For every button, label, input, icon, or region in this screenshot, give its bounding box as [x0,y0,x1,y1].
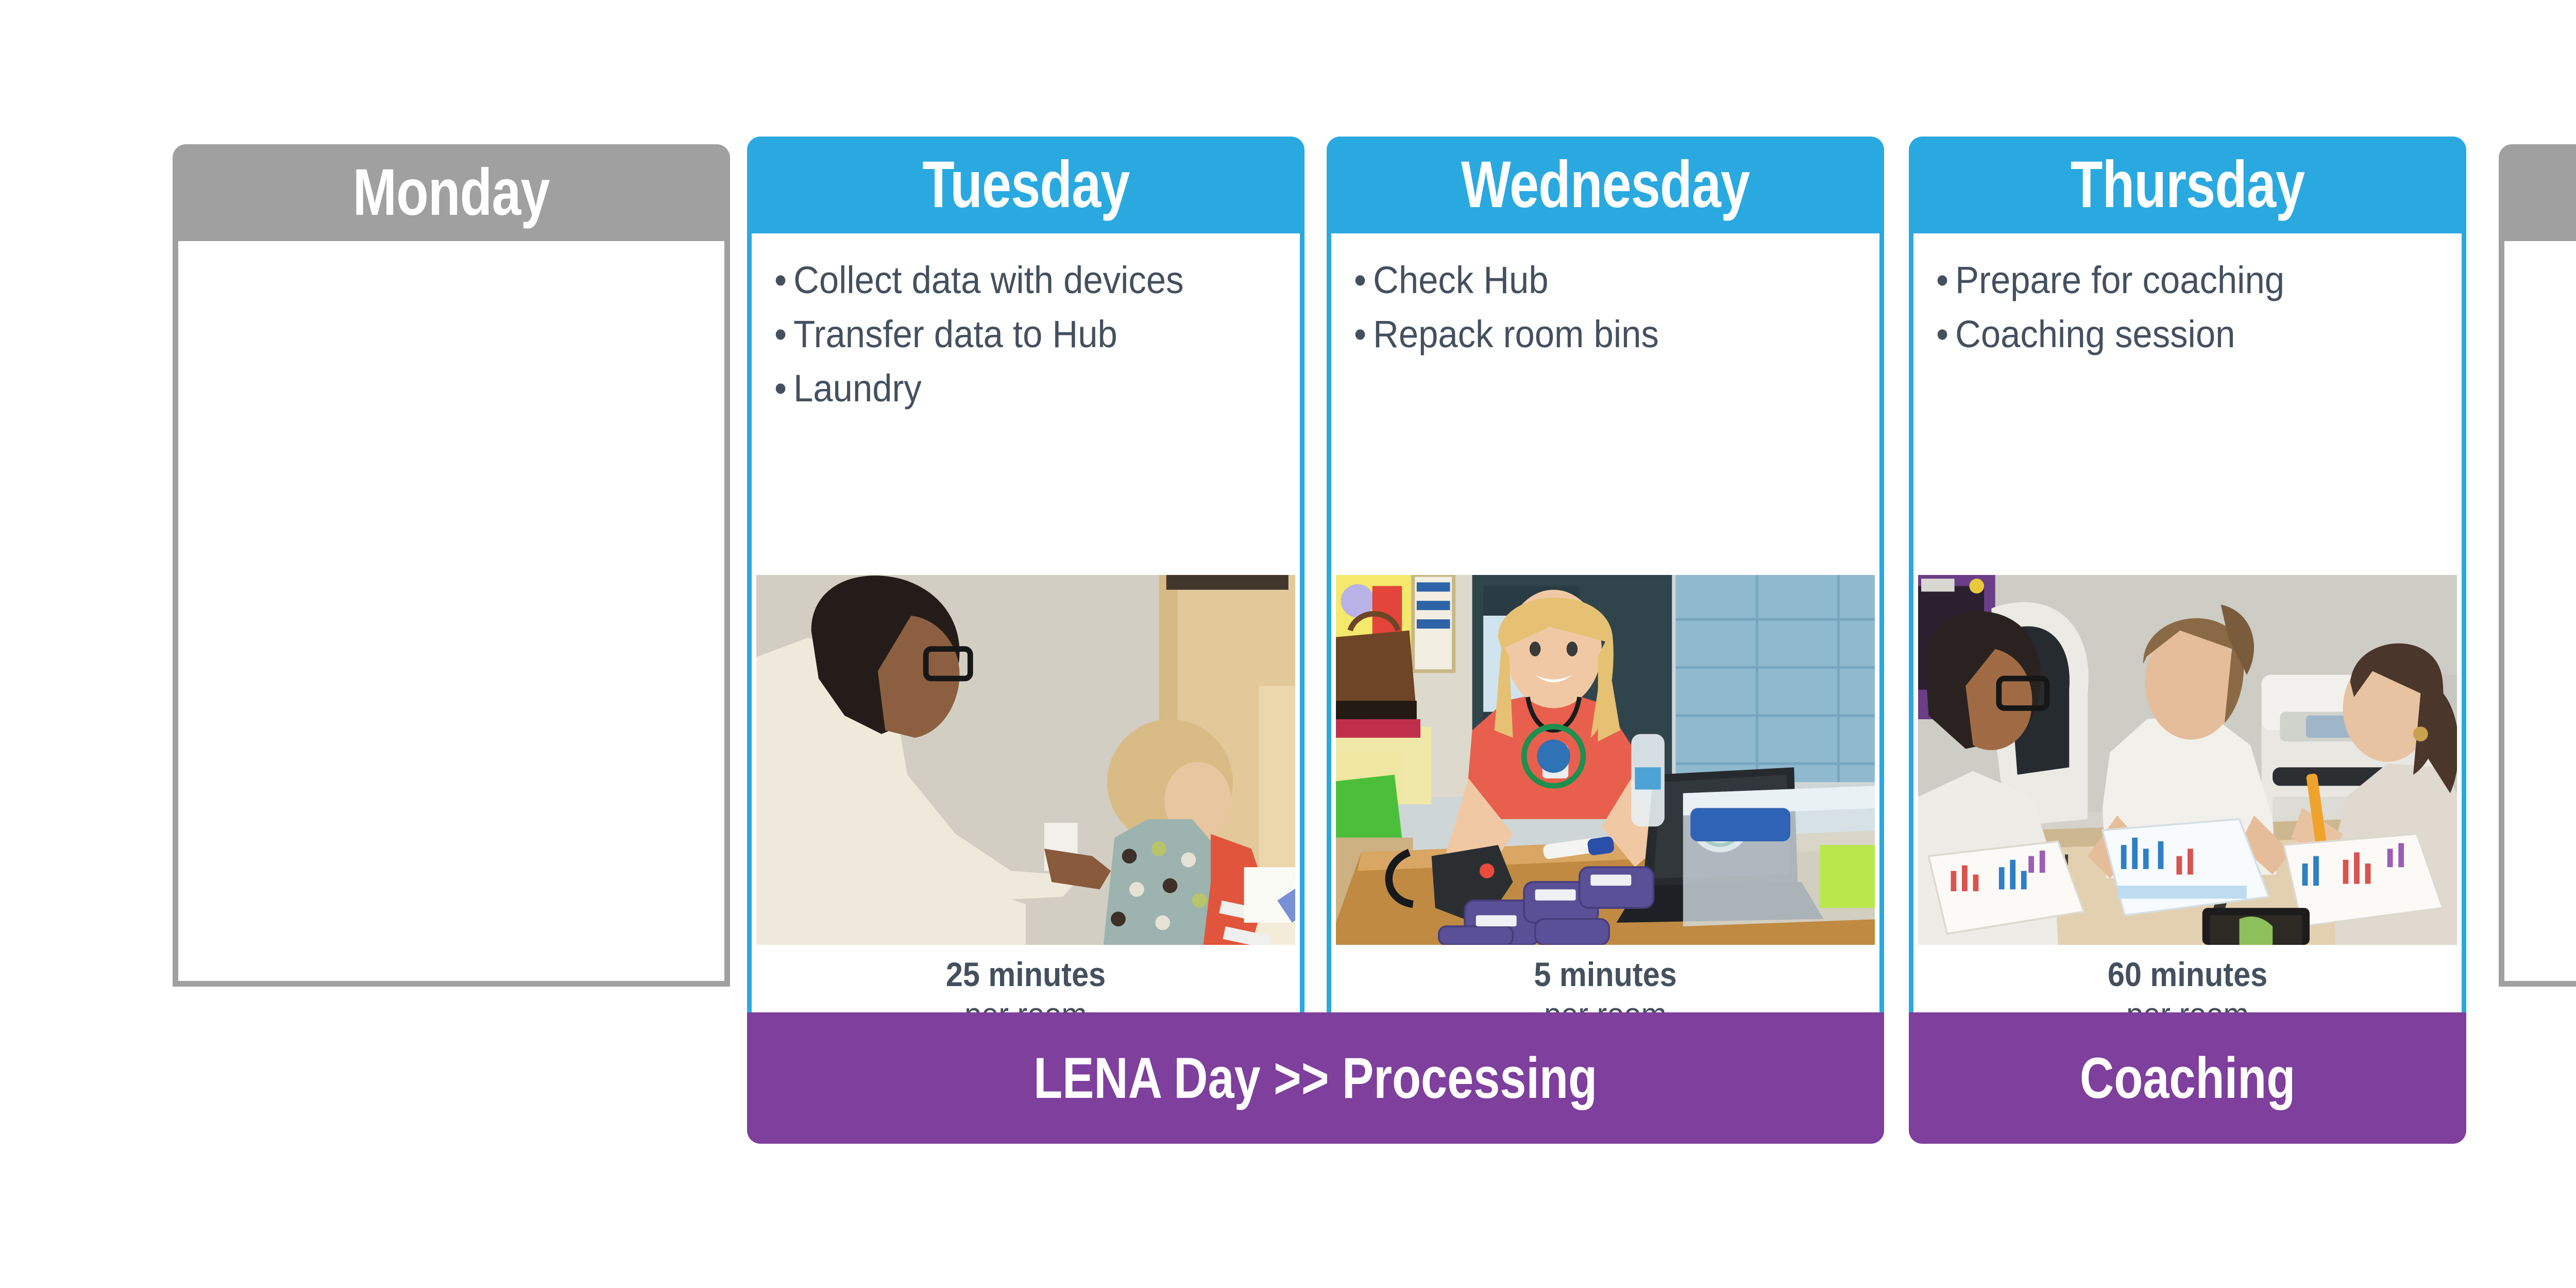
duration-value: 25 minutes [783,955,1268,995]
list-item: •Prepare for coaching [1936,253,2425,307]
task-label: Check Hub [1373,259,1548,301]
task-label: Laundry [793,367,922,410]
list-item: •Check Hub [1354,253,1843,307]
task-list-wednesday: •Check Hub •Repack room bins [1331,233,1879,361]
bullet-icon: • [1354,259,1366,301]
photo-wednesday-illustration [1336,575,1875,945]
day-header-thursday: Thursday [1909,137,2466,233]
bullet-icon: • [1936,313,1948,355]
day-title-thursday: Thursday [2071,152,2305,218]
task-list-tuesday: •Collect data with devices •Transfer dat… [752,233,1300,415]
photo-thursday-illustration: INCEPTI N [1918,575,2457,945]
photo-tuesday-illustration [756,575,1295,945]
task-label: Collect data with devices [793,259,1183,301]
day-header-friday: Friday [2499,144,2576,241]
banner-coaching[interactable]: Coaching [1909,1012,2466,1144]
banner-label: Coaching [2080,1049,2295,1107]
banner-lena-day-processing[interactable]: LENA Day >> Processing [747,1012,1884,1144]
photo-wednesday [1336,575,1875,945]
photo-tuesday [756,575,1295,945]
day-title-tuesday: Tuesday [922,152,1129,218]
day-header-wednesday: Wednesday [1327,137,1884,233]
task-label: Coaching session [1955,313,2235,355]
task-list-thursday: •Prepare for coaching •Coaching session [1913,233,2462,361]
day-body-friday [2499,241,2576,987]
day-header-monday: Monday [173,144,730,241]
day-body-tuesday: •Collect data with devices •Transfer dat… [747,233,1304,1013]
bullet-icon: • [1936,259,1948,301]
duration-value: 5 minutes [1363,955,1848,995]
photo-thursday: INCEPTI N [1918,575,2457,945]
day-title-wednesday: Wednesday [1461,152,1750,218]
day-body-thursday: •Prepare for coaching •Coaching session [1909,233,2466,1013]
list-item: •Collect data with devices [774,253,1263,307]
list-item: •Laundry [774,361,1263,415]
list-item: •Repack room bins [1354,307,1843,361]
duration-value: 60 minutes [1945,955,2430,995]
bullet-icon: • [774,259,787,301]
day-body-wednesday: •Check Hub •Repack room bins [1327,233,1884,1013]
bullet-icon: • [774,313,787,355]
bullet-icon: • [774,367,787,410]
day-body-monday [173,241,730,987]
day-title-monday: Monday [353,160,550,226]
task-label: Repack room bins [1373,313,1659,355]
list-item: •Coaching session [1936,307,2425,361]
bullet-icon: • [1354,313,1366,355]
banner-label: LENA Day >> Processing [1033,1049,1597,1107]
day-header-tuesday: Tuesday [747,137,1304,233]
list-item: •Transfer data to Hub [774,307,1263,361]
task-label: Transfer data to Hub [793,313,1117,355]
task-label: Prepare for coaching [1955,259,2284,301]
